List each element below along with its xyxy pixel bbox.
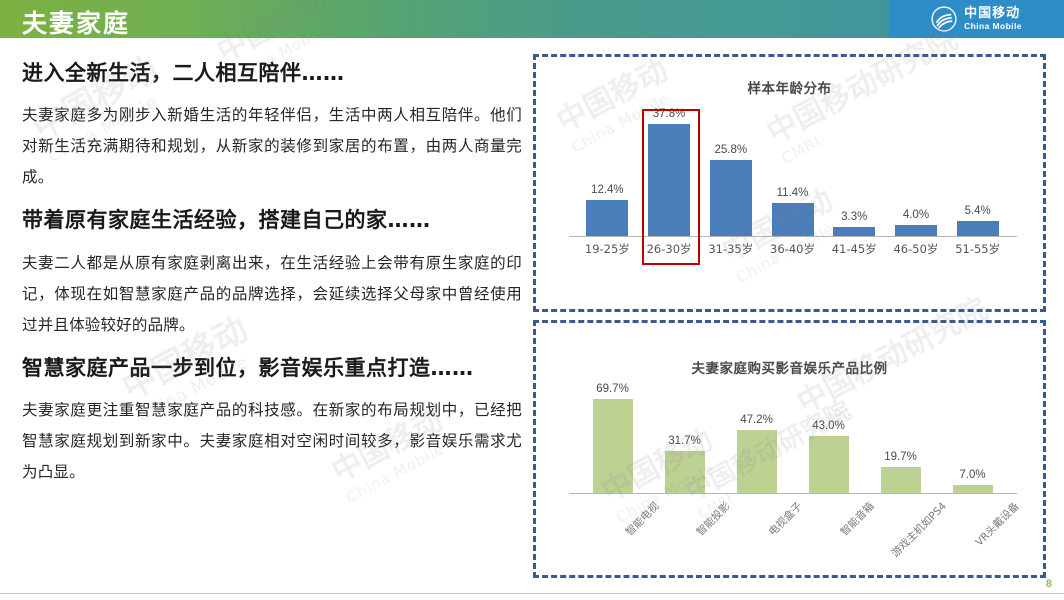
x-axis-label: 26-30岁: [638, 241, 700, 261]
chart-plot-age: 12.4%37.8%25.8%11.4%3.3%4.0%5.4% 19-25岁2…: [555, 91, 1025, 271]
x-axis-label: VR头戴设备: [958, 496, 1022, 560]
x-axis-label: 36-40岁: [762, 241, 824, 261]
china-mobile-logo-icon: [931, 6, 957, 32]
bar: [586, 200, 628, 237]
bar: [593, 399, 633, 494]
section-body-1: 夫妻家庭多为刚步入新婚生活的年轻伴侣，生活中两人相互陪伴。他们对新生活充满期待和…: [22, 100, 522, 193]
section-heading-2: 带着原有家庭生活经验，搭建自己的家……: [22, 207, 522, 233]
bar-value-label: 19.7%: [884, 451, 917, 463]
bar-column: 31.7%: [649, 382, 721, 494]
bar-value-label: 25.8%: [714, 144, 747, 156]
bar-value-label: 4.0%: [903, 209, 929, 221]
x-axis-label: 智能电视: [598, 496, 662, 560]
slide-root: 夫妻家庭 中国移动 China Mobile 进入全新生活，二人相互陪伴…… 夫…: [0, 0, 1064, 600]
bar: [809, 436, 849, 494]
bar: [737, 430, 777, 494]
bar-column: 19.7%: [865, 382, 937, 494]
chart-panel-age-distribution: 样本年龄分布 12.4%37.8%25.8%11.4%3.3%4.0%5.4% …: [533, 54, 1046, 312]
text-column: 进入全新生活，二人相互陪伴…… 夫妻家庭多为刚步入新婚生活的年轻伴侣，生活中两人…: [22, 60, 522, 502]
section-block-2: 带着原有家庭生活经验，搭建自己的家…… 夫妻二人都是从原有家庭剥离出来，在生活经…: [22, 207, 522, 340]
x-axis-label: 51-55岁: [947, 241, 1009, 261]
bar-column: 69.7%: [577, 382, 649, 494]
bar: [665, 451, 705, 494]
brand-name-cn: 中国移动: [964, 7, 1022, 20]
bar-value-label: 47.2%: [740, 414, 773, 426]
x-axis-label: 电视盒子: [742, 496, 806, 560]
bar: [710, 160, 752, 237]
bar-value-label: 31.7%: [668, 435, 701, 447]
bar: [881, 467, 921, 494]
brand-name-en: China Mobile: [964, 22, 1022, 31]
bar-value-label: 37.8%: [653, 108, 686, 120]
section-heading-3: 智慧家庭产品一步到位，影音娱乐重点打造……: [22, 355, 522, 381]
bar: [648, 124, 690, 237]
bar: [957, 221, 999, 237]
bar-series-av: 69.7%31.7%47.2%43.0%19.7%7.0%: [577, 382, 1009, 494]
x-axis-label: 31-35岁: [700, 241, 762, 261]
bar-column: 5.4%: [947, 91, 1009, 237]
chart-panel-av-purchase: 夫妻家庭购买影音娱乐产品比例 69.7%31.7%47.2%43.0%19.7%…: [533, 320, 1046, 578]
chart-title-av: 夫妻家庭购买影音娱乐产品比例: [536, 357, 1043, 377]
x-axis-label: 46-50岁: [885, 241, 947, 261]
section-block-3: 智慧家庭产品一步到位，影音娱乐重点打造…… 夫妻家庭更注重智慧家庭产品的科技感。…: [22, 355, 522, 488]
bar-value-label: 3.3%: [841, 211, 867, 223]
bar-column: 3.3%: [823, 91, 885, 237]
bar-column: 7.0%: [937, 382, 1009, 494]
footer-divider: [0, 593, 1064, 594]
page-number: 8: [1046, 578, 1052, 590]
bar-value-label: 12.4%: [591, 184, 624, 196]
bar-value-label: 5.4%: [965, 205, 991, 217]
x-axis-label: 智能音箱: [813, 496, 877, 560]
x-axis-line-av: [569, 493, 1017, 494]
bar-column: 4.0%: [885, 91, 947, 237]
bar-value-label: 7.0%: [959, 469, 985, 481]
bar-column: 47.2%: [721, 382, 793, 494]
page-title: 夫妻家庭: [22, 4, 130, 40]
bar-series-age: 12.4%37.8%25.8%11.4%3.3%4.0%5.4%: [577, 91, 1009, 237]
brand-logo: 中国移动 China Mobile: [889, 0, 1064, 38]
bar-value-label: 11.4%: [777, 187, 809, 199]
x-axis-labels-age: 19-25岁26-30岁31-35岁36-40岁41-45岁46-50岁51-5…: [577, 241, 1009, 261]
x-axis-line-age: [569, 236, 1017, 237]
bar-value-label: 69.7%: [596, 383, 629, 395]
bar-column: 37.8%: [638, 91, 700, 237]
x-axis-label: 41-45岁: [823, 241, 885, 261]
x-axis-label: 19-25岁: [577, 241, 639, 261]
section-heading-1: 进入全新生活，二人相互陪伴……: [22, 60, 522, 86]
bar-value-label: 43.0%: [812, 420, 845, 432]
bar-column: 43.0%: [793, 382, 865, 494]
x-axis-label: 游戏主机如PS4: [886, 496, 950, 560]
bar-column: 25.8%: [700, 91, 762, 237]
slide-header: 夫妻家庭 中国移动 China Mobile: [0, 0, 1064, 38]
section-block-1: 进入全新生活，二人相互陪伴…… 夫妻家庭多为刚步入新婚生活的年轻伴侣，生活中两人…: [22, 60, 522, 193]
x-axis-label: 智能投影: [670, 496, 734, 560]
bar-column: 11.4%: [762, 91, 824, 237]
section-body-3: 夫妻家庭更注重智慧家庭产品的科技感。在新家的布局规划中，已经把智慧家庭规划到新家…: [22, 395, 522, 488]
bar: [772, 203, 814, 237]
chart-plot-av: 69.7%31.7%47.2%43.0%19.7%7.0% 智能电视智能投影电视…: [555, 379, 1025, 554]
x-axis-labels-av: 智能电视智能投影电视盒子智能音箱游戏主机如PS4VR头戴设备: [577, 496, 1009, 554]
section-body-2: 夫妻二人都是从原有家庭剥离出来，在生活经验上会带有原生家庭的印记，体现在如智慧家…: [22, 248, 522, 341]
bar-column: 12.4%: [577, 91, 639, 237]
